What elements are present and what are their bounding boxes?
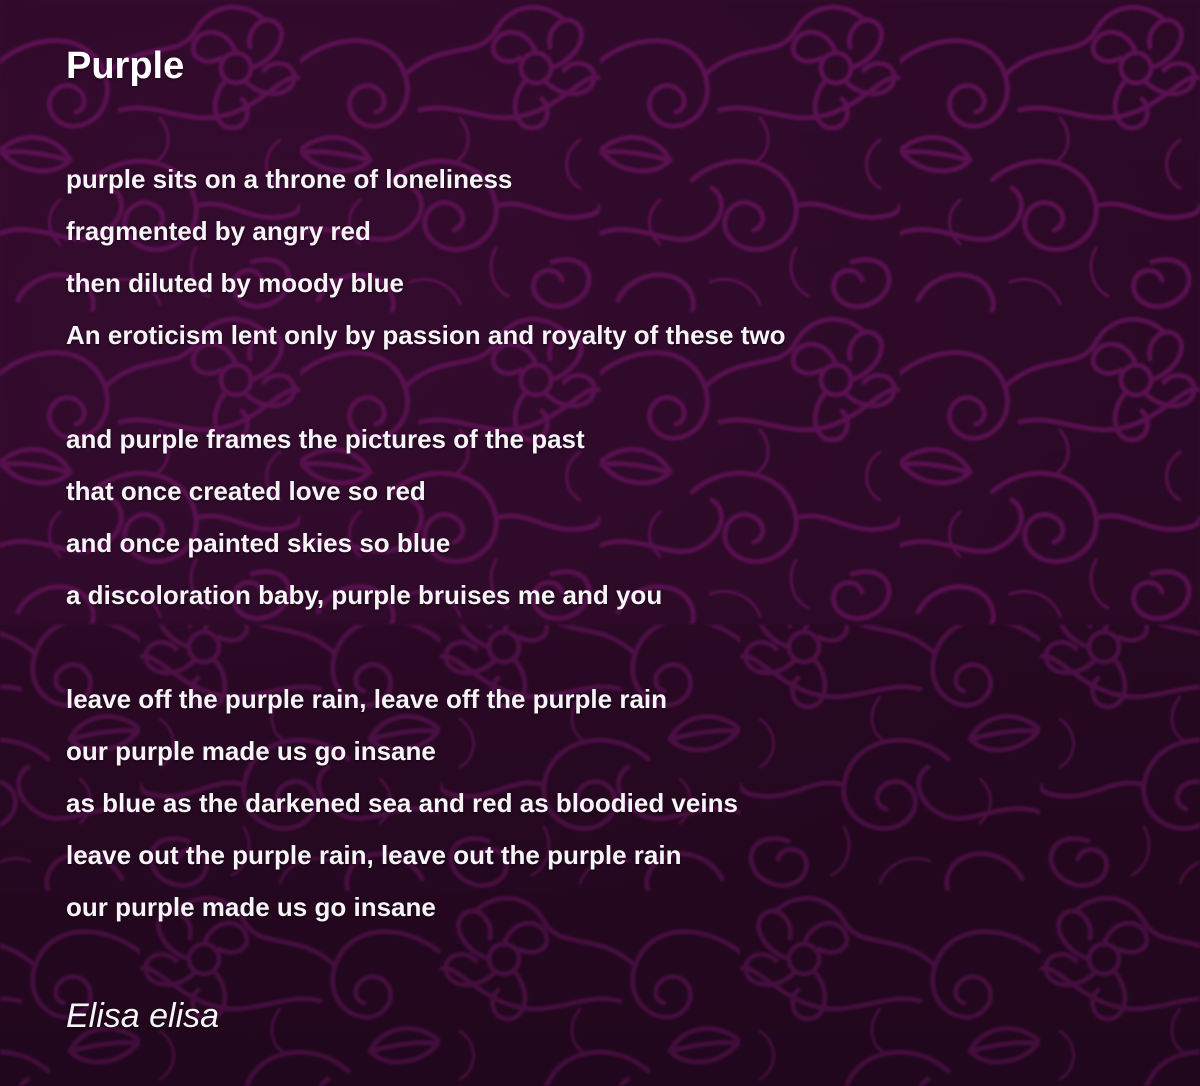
poem-line: our purple made us go insane bbox=[66, 725, 1166, 777]
poem-line: then diluted by moody blue bbox=[66, 257, 1166, 309]
poem-line: leave out the purple rain, leave out the… bbox=[66, 829, 1166, 881]
poem-stanzas: purple sits on a throne of lonelinessfra… bbox=[66, 153, 1166, 933]
poem-stanza: leave off the purple rain, leave off the… bbox=[66, 673, 1166, 933]
poem-author-signature: Elisa elisa bbox=[66, 994, 219, 1038]
poem-line: purple sits on a throne of loneliness bbox=[66, 153, 1166, 205]
poem-line: a discoloration baby, purple bruises me … bbox=[66, 569, 1166, 621]
poem-line: and once painted skies so blue bbox=[66, 517, 1166, 569]
poem-line: as blue as the darkened sea and red as b… bbox=[66, 777, 1166, 829]
poem-stanza: and purple frames the pictures of the pa… bbox=[66, 413, 1166, 621]
poem-line: fragmented by angry red bbox=[66, 205, 1166, 257]
poem-line: and purple frames the pictures of the pa… bbox=[66, 413, 1166, 465]
poem-line: An eroticism lent only by passion and ro… bbox=[66, 309, 1166, 361]
poem-content: Purple purple sits on a throne of loneli… bbox=[0, 0, 1200, 1086]
poem-stanza: purple sits on a throne of lonelinessfra… bbox=[66, 153, 1166, 361]
poem-line: that once created love so red bbox=[66, 465, 1166, 517]
poem-line: our purple made us go insane bbox=[66, 881, 1166, 933]
poem-line: leave off the purple rain, leave off the… bbox=[66, 673, 1166, 725]
page-title: Purple bbox=[66, 47, 184, 87]
poem-page: Purple purple sits on a throne of loneli… bbox=[0, 0, 1200, 1086]
